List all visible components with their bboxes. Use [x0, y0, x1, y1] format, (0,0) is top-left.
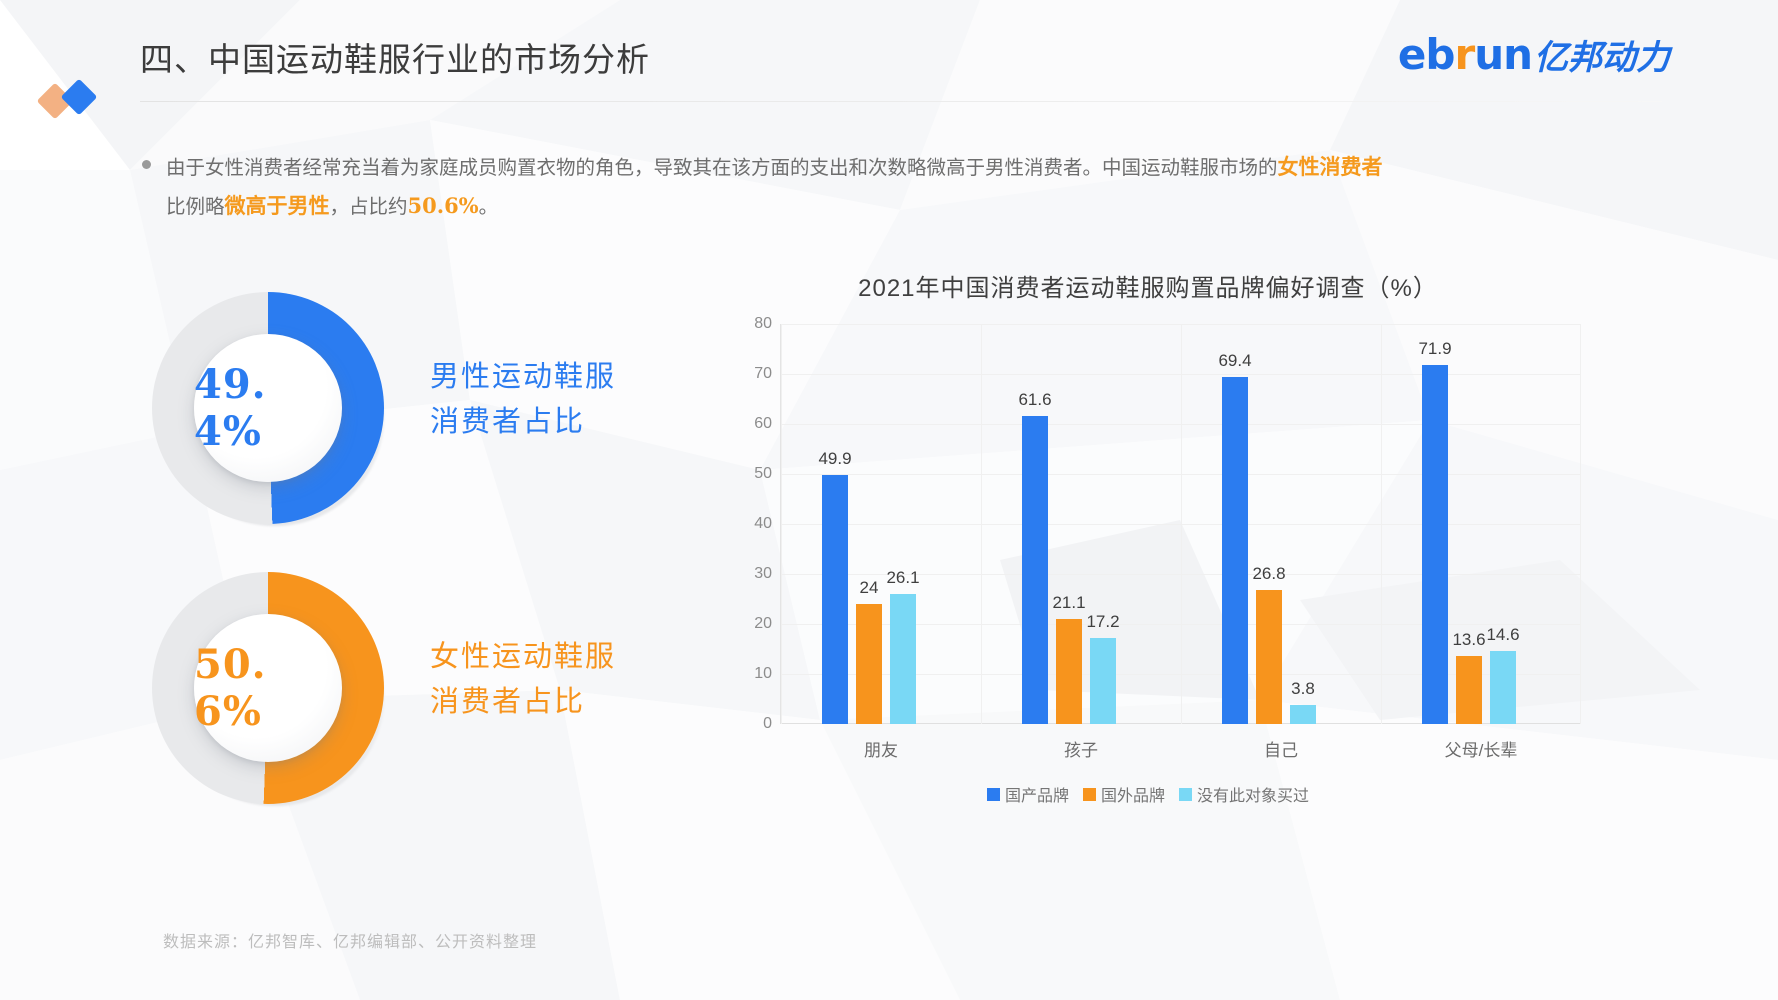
bullet-highlight-1: 女性消费者	[1278, 154, 1383, 179]
bullet-highlight-3: 50.6%	[408, 193, 479, 218]
bullet-dot-icon	[142, 160, 151, 169]
y-axis-tick: 50	[754, 465, 772, 483]
bar-父母/长辈-没有此对象买过	[1490, 651, 1516, 724]
donut-center: 50. 6%	[194, 614, 342, 762]
bar-孩子-国产品牌	[1022, 416, 1048, 724]
bar-value-label: 49.9	[818, 449, 851, 469]
bar-value-label: 3.8	[1291, 679, 1315, 699]
bar-chart: 2021年中国消费者运动鞋服购置品牌偏好调查（%） 49.92426.161.6…	[718, 268, 1728, 808]
bullet-highlight-2: 微高于男性	[225, 193, 330, 218]
chart-plot-area: 49.92426.161.621.117.269.426.83.871.913.…	[780, 324, 1581, 724]
donut-label-1: 男性运动鞋服消费者占比	[430, 354, 616, 444]
bar-朋友-没有此对象买过	[890, 594, 916, 725]
legend-item-没有此对象买过[interactable]: 没有此对象买过	[1179, 782, 1309, 806]
legend-swatch-icon	[987, 788, 1000, 801]
ebrun-logo: ebrun亿邦动力	[1398, 30, 1670, 79]
donut-chart-2: 50. 6%	[152, 572, 384, 804]
donut-value: 49. 4%	[194, 361, 342, 455]
diamond-blue-icon	[61, 79, 98, 116]
donut-center: 49. 4%	[194, 334, 342, 482]
bullet-paragraph: 由于女性消费者经常充当着为家庭成员购置衣物的角色，导致其在该方面的支出和次数略微…	[140, 148, 1650, 226]
legend-label: 国产品牌	[1005, 782, 1069, 806]
logo-text-cn: 亿邦动力	[1534, 30, 1670, 79]
y-axis-tick: 60	[754, 415, 772, 433]
bar-朋友-国产品牌	[822, 475, 848, 725]
chart-legend: 国产品牌国外品牌没有此对象买过	[718, 782, 1578, 806]
chart-title: 2021年中国消费者运动鞋服购置品牌偏好调查（%）	[718, 268, 1578, 303]
page-title: 四、中国运动鞋服行业的市场分析	[140, 33, 650, 81]
gridline-vertical	[981, 324, 982, 724]
bullet-segment-1: 由于女性消费者经常充当着为家庭成员购置衣物的角色，导致其在该方面的支出和次数略微…	[166, 156, 1278, 179]
bullet-text: 由于女性消费者经常充当着为家庭成员购置衣物的角色，导致其在该方面的支出和次数略微…	[166, 148, 1650, 226]
bar-value-label: 17.2	[1086, 612, 1119, 632]
x-axis-label: 孩子	[1064, 736, 1098, 761]
x-axis-label: 自己	[1264, 736, 1298, 761]
bar-value-label: 26.8	[1252, 564, 1285, 584]
legend-label: 国外品牌	[1101, 782, 1165, 806]
source-note: 数据来源：亿邦智库、亿邦编辑部、公开资料整理	[163, 928, 537, 952]
page-header: 四、中国运动鞋服行业的市场分析 ebrun亿邦动力	[0, 0, 1778, 108]
legend-swatch-icon	[1083, 788, 1096, 801]
bar-value-label: 61.6	[1018, 390, 1051, 410]
bullet-segment-4: 。	[479, 195, 499, 218]
logo-text-eb: eb	[1398, 30, 1455, 79]
donut-label-line2: 消费者占比	[430, 399, 616, 444]
bar-value-label: 14.6	[1486, 625, 1519, 645]
bar-value-label: 26.1	[886, 568, 919, 588]
bullet-segment-2: 比例略	[166, 195, 225, 218]
diamond-decoration	[40, 78, 114, 122]
logo-text-un: un	[1474, 30, 1532, 79]
gridline-vertical	[1580, 324, 1581, 724]
bar-父母/长辈-国外品牌	[1456, 656, 1482, 724]
gridline-vertical	[1181, 324, 1182, 724]
bar-value-label: 13.6	[1452, 630, 1485, 650]
bar-自己-没有此对象买过	[1290, 705, 1316, 724]
legend-item-国产品牌[interactable]: 国产品牌	[987, 782, 1069, 806]
gridline-vertical	[1381, 324, 1382, 724]
y-axis-tick: 20	[754, 615, 772, 633]
y-axis-tick: 10	[754, 665, 772, 683]
bar-自己-国外品牌	[1256, 590, 1282, 724]
donut-label-line1: 男性运动鞋服	[430, 354, 616, 399]
donut-value: 50. 6%	[194, 641, 342, 735]
donut-label-line2: 消费者占比	[430, 679, 616, 724]
bar-value-label: 69.4	[1218, 351, 1251, 371]
bar-value-label: 21.1	[1052, 593, 1085, 613]
y-axis-tick: 70	[754, 365, 772, 383]
bar-孩子-国外品牌	[1056, 619, 1082, 725]
bar-父母/长辈-国产品牌	[1422, 365, 1448, 725]
bullet-segment-3: ，占比约	[330, 195, 408, 218]
donut-label-line1: 女性运动鞋服	[430, 634, 616, 679]
legend-label: 没有此对象买过	[1197, 782, 1309, 806]
logo-text-r: r	[1454, 30, 1474, 79]
donut-chart-1: 49. 4%	[152, 292, 384, 524]
header-divider	[140, 101, 1662, 102]
bar-孩子-没有此对象买过	[1090, 638, 1116, 724]
bar-value-label: 24	[860, 578, 879, 598]
bar-value-label: 71.9	[1418, 339, 1451, 359]
y-axis-tick: 80	[754, 315, 772, 333]
y-axis-tick: 40	[754, 515, 772, 533]
legend-item-国外品牌[interactable]: 国外品牌	[1083, 782, 1165, 806]
bar-朋友-国外品牌	[856, 604, 882, 724]
y-axis-tick: 0	[763, 715, 772, 733]
x-axis-label: 朋友	[864, 736, 898, 761]
y-axis-tick: 30	[754, 565, 772, 583]
legend-swatch-icon	[1179, 788, 1192, 801]
x-axis-label: 父母/长辈	[1445, 736, 1518, 761]
bar-自己-国产品牌	[1222, 377, 1248, 724]
gridline-vertical	[781, 324, 782, 724]
donut-label-2: 女性运动鞋服消费者占比	[430, 634, 616, 724]
